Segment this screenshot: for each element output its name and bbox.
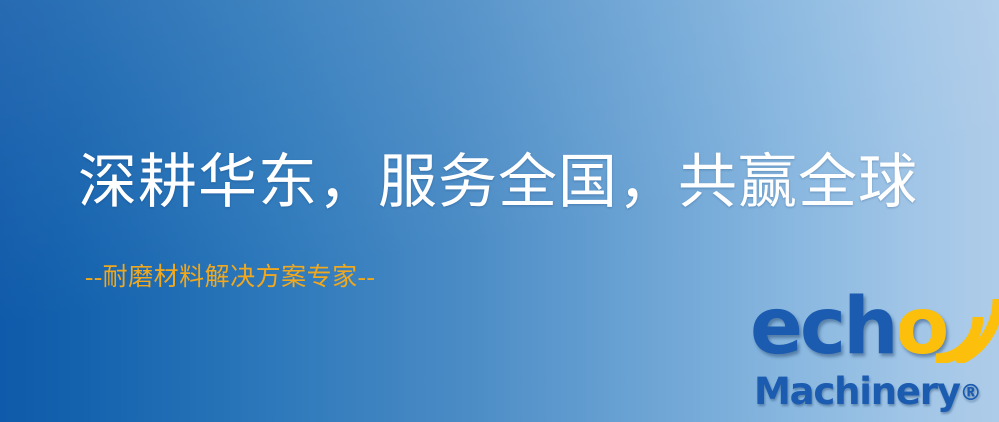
logo-wordmark-blue-text: ech bbox=[750, 282, 896, 372]
logo-subword-text: Machinery bbox=[754, 370, 960, 413]
page-subtitle: --耐磨材料解决方案专家-- bbox=[85, 264, 375, 292]
logo-subword: Machinery® bbox=[754, 371, 982, 415]
hero-banner: 深耕华东，服务全国，共赢全球 --耐磨材料解决方案专家-- echo Machi… bbox=[0, 0, 999, 422]
page-title: 深耕华东，服务全国，共赢全球 bbox=[78, 152, 918, 214]
registered-trademark-icon: ® bbox=[960, 381, 982, 406]
company-logo[interactable]: echo Machinery® bbox=[748, 288, 999, 422]
logo-wordmark: echo bbox=[750, 288, 946, 366]
echo-signal-arcs-icon bbox=[930, 285, 999, 363]
